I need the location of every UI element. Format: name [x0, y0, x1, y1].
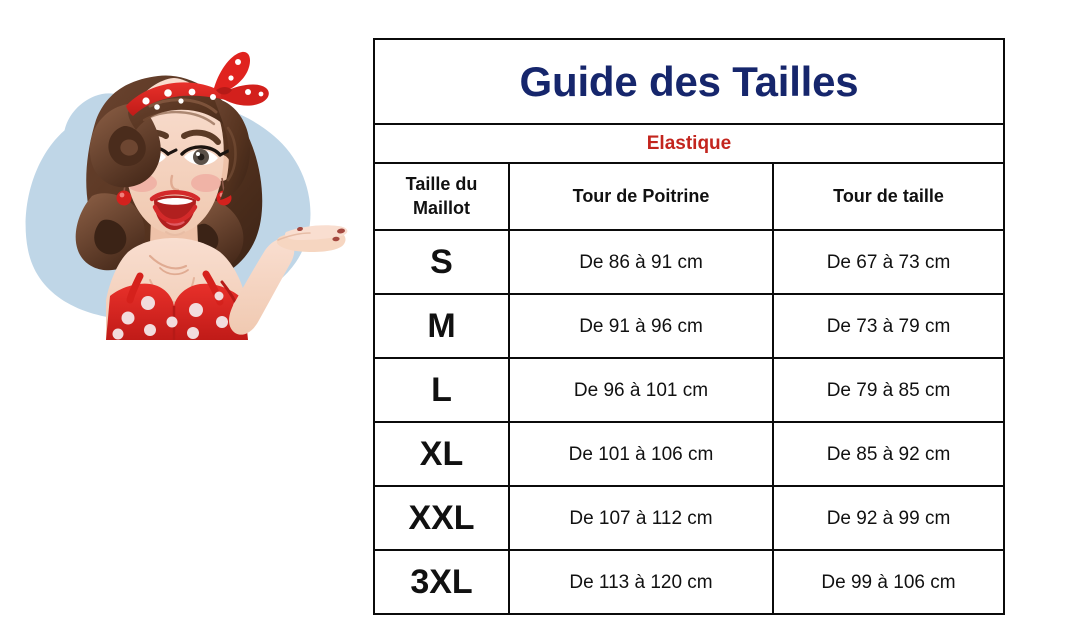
page-title: Guide des Tailles: [520, 58, 859, 105]
size-guide-page: Guide des Tailles Elastique Taille du Ma…: [0, 0, 1091, 636]
title-cell: Guide des Tailles: [374, 39, 1004, 124]
cell-bust: De 101 à 106 cm: [509, 422, 773, 486]
table-row: 3XL De 113 à 120 cm De 99 à 106 cm: [374, 550, 1004, 614]
cell-waist: De 85 à 92 cm: [773, 422, 1004, 486]
column-header-size-line1: Taille du: [406, 174, 478, 194]
column-header-size-line2: Maillot: [413, 198, 470, 218]
cell-size: S: [374, 230, 509, 294]
cell-bust: De 86 à 91 cm: [509, 230, 773, 294]
cell-size: M: [374, 294, 509, 358]
table-title-row: Guide des Tailles: [374, 39, 1004, 124]
cell-bust: De 96 à 101 cm: [509, 358, 773, 422]
size-guide-table-container: Guide des Tailles Elastique Taille du Ma…: [373, 38, 1003, 597]
column-header-size: Taille du Maillot: [374, 163, 509, 230]
cell-size: 3XL: [374, 550, 509, 614]
table-row: XL De 101 à 106 cm De 85 à 92 cm: [374, 422, 1004, 486]
cell-bust: De 91 à 96 cm: [509, 294, 773, 358]
table-row: S De 86 à 91 cm De 67 à 73 cm: [374, 230, 1004, 294]
material-label: Elastique: [647, 133, 731, 154]
column-header-bust: Tour de Poitrine: [509, 163, 773, 230]
cell-bust: De 113 à 120 cm: [509, 550, 773, 614]
cell-waist: De 92 à 99 cm: [773, 486, 1004, 550]
cell-waist: De 67 à 73 cm: [773, 230, 1004, 294]
table-row: XXL De 107 à 112 cm De 92 à 99 cm: [374, 486, 1004, 550]
pinup-woman-illustration: [0, 0, 370, 636]
cell-waist: De 99 à 106 cm: [773, 550, 1004, 614]
cell-waist: De 79 à 85 cm: [773, 358, 1004, 422]
table-header-row: Taille du Maillot Tour de Poitrine Tour …: [374, 163, 1004, 230]
cell-bust: De 107 à 112 cm: [509, 486, 773, 550]
cell-size: L: [374, 358, 509, 422]
table-subtitle-row: Elastique: [374, 124, 1004, 163]
cell-size: XL: [374, 422, 509, 486]
cell-size: XXL: [374, 486, 509, 550]
subtitle-cell: Elastique: [374, 124, 1004, 163]
cell-waist: De 73 à 79 cm: [773, 294, 1004, 358]
table-row: L De 96 à 101 cm De 79 à 85 cm: [374, 358, 1004, 422]
column-header-waist: Tour de taille: [773, 163, 1004, 230]
size-guide-table: Guide des Tailles Elastique Taille du Ma…: [373, 38, 1005, 615]
table-row: M De 91 à 96 cm De 73 à 79 cm: [374, 294, 1004, 358]
illustration-artwork: [26, 52, 348, 340]
bandana-bow: [214, 52, 269, 106]
